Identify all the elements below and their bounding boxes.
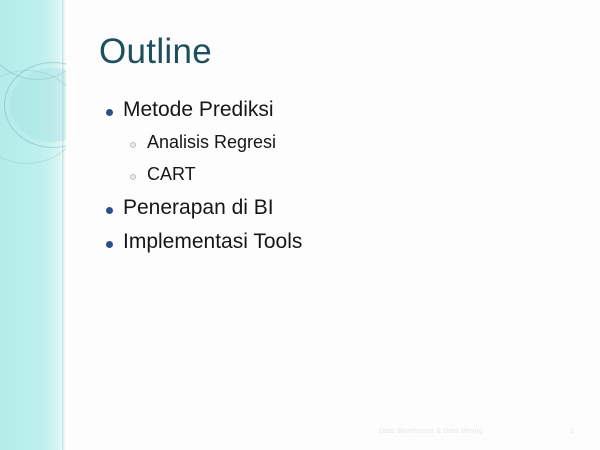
sub-bullet-circle-icon (130, 142, 136, 148)
slide-title: Outline (99, 34, 212, 69)
outline-bullet-list: Metode Prediksi Analisis Regresi CART Pe… (99, 98, 519, 264)
list-item: CART (99, 164, 519, 196)
list-item: Metode Prediksi (99, 98, 519, 132)
sidebar-divider (62, 0, 65, 450)
list-item-label: Metode Prediksi (123, 98, 274, 122)
list-item: Penerapan di BI (99, 196, 519, 230)
list-item: Analisis Regresi (99, 132, 519, 164)
bullet-dot-icon (106, 109, 113, 116)
list-item-label: Penerapan di BI (123, 196, 274, 220)
slide-page-number: 2 (570, 428, 574, 435)
list-item-label: CART (147, 164, 196, 185)
bullet-dot-icon (106, 207, 113, 214)
sub-bullet-circle-icon (130, 174, 136, 180)
slide-canvas: Outline Metode Prediksi Analisis Regresi… (0, 0, 600, 450)
list-item-label: Implementasi Tools (123, 230, 302, 254)
list-item: Implementasi Tools (99, 230, 519, 264)
slide-footer-note: Data Warehouse & Data Mining (379, 428, 483, 435)
decorative-sidebar-band (0, 0, 66, 450)
bullet-dot-icon (106, 241, 113, 248)
list-item-label: Analisis Regresi (147, 132, 276, 153)
